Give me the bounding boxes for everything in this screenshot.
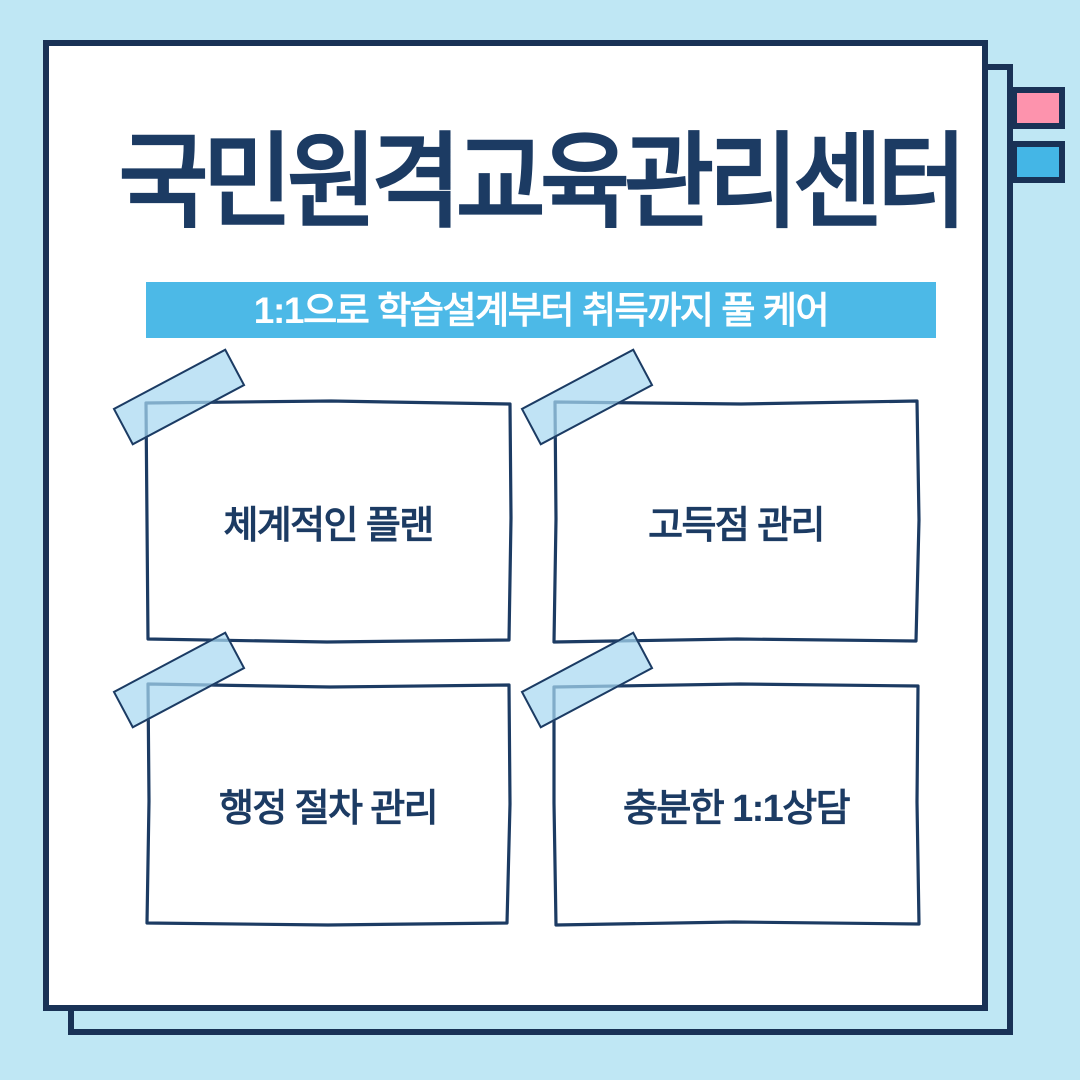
feature-card[interactable]: 고득점 관리	[551, 398, 921, 644]
feature-card[interactable]: 충분한 1:1상담	[551, 681, 921, 927]
page-title: 국민원격교육관리센터	[32, 131, 1047, 235]
subtitle-banner: 1:1으로 학습설계부터 취득까지 풀 케어	[146, 282, 936, 338]
feature-card-label: 충분한 1:1상담	[551, 681, 921, 927]
feature-card-label: 행정 절차 관리	[143, 681, 513, 927]
pink-square-decoration	[1011, 87, 1065, 129]
feature-card-label: 고득점 관리	[551, 398, 921, 644]
poster-canvas: 국민원격교육관리센터 1:1으로 학습설계부터 취득까지 풀 케어 체계적인 플…	[0, 0, 1080, 1080]
feature-card[interactable]: 행정 절차 관리	[143, 681, 513, 927]
feature-card[interactable]: 체계적인 플랜	[143, 398, 513, 644]
subtitle-text: 1:1으로 학습설계부터 취득까지 풀 케어	[254, 292, 828, 329]
feature-card-label: 체계적인 플랜	[143, 398, 513, 644]
